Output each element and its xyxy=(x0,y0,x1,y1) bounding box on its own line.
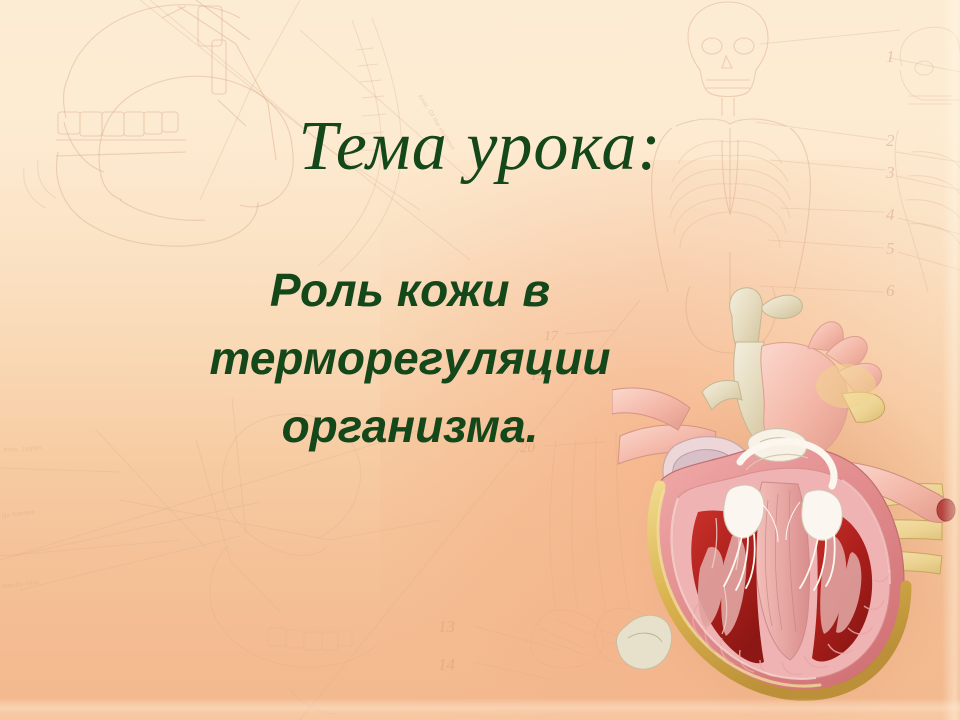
watermark-tiny-label: Maxilla infra xyxy=(2,580,40,590)
bottom-edge-highlight xyxy=(0,698,960,720)
watermark-skeleton-label: 6 xyxy=(886,281,895,300)
watermark-tiny-label: Os frontale xyxy=(1,509,36,520)
watermark-leg-label: 14 xyxy=(438,655,456,674)
subtitle-line-3: организма. xyxy=(150,392,670,460)
subtitle-line-2: терморегуляции xyxy=(150,324,670,392)
presentation-slide: Anat. Of the skeleton xyxy=(0,0,960,720)
watermark-skeleton-label: 5 xyxy=(886,239,895,258)
slide-subtitle: Роль кожи в терморегуляции организма. xyxy=(150,256,670,460)
watermark-skeleton-label: 1 xyxy=(886,47,895,66)
right-edge-highlight xyxy=(942,0,960,720)
subtitle-line-1: Роль кожи в xyxy=(150,256,670,324)
watermark-skeleton-label: 4 xyxy=(886,205,895,224)
slide-title: Тема урока: xyxy=(0,112,960,182)
watermark-leg-label: 13 xyxy=(438,617,455,636)
watermark-tiny-label: Proc. zygom. xyxy=(4,445,44,454)
